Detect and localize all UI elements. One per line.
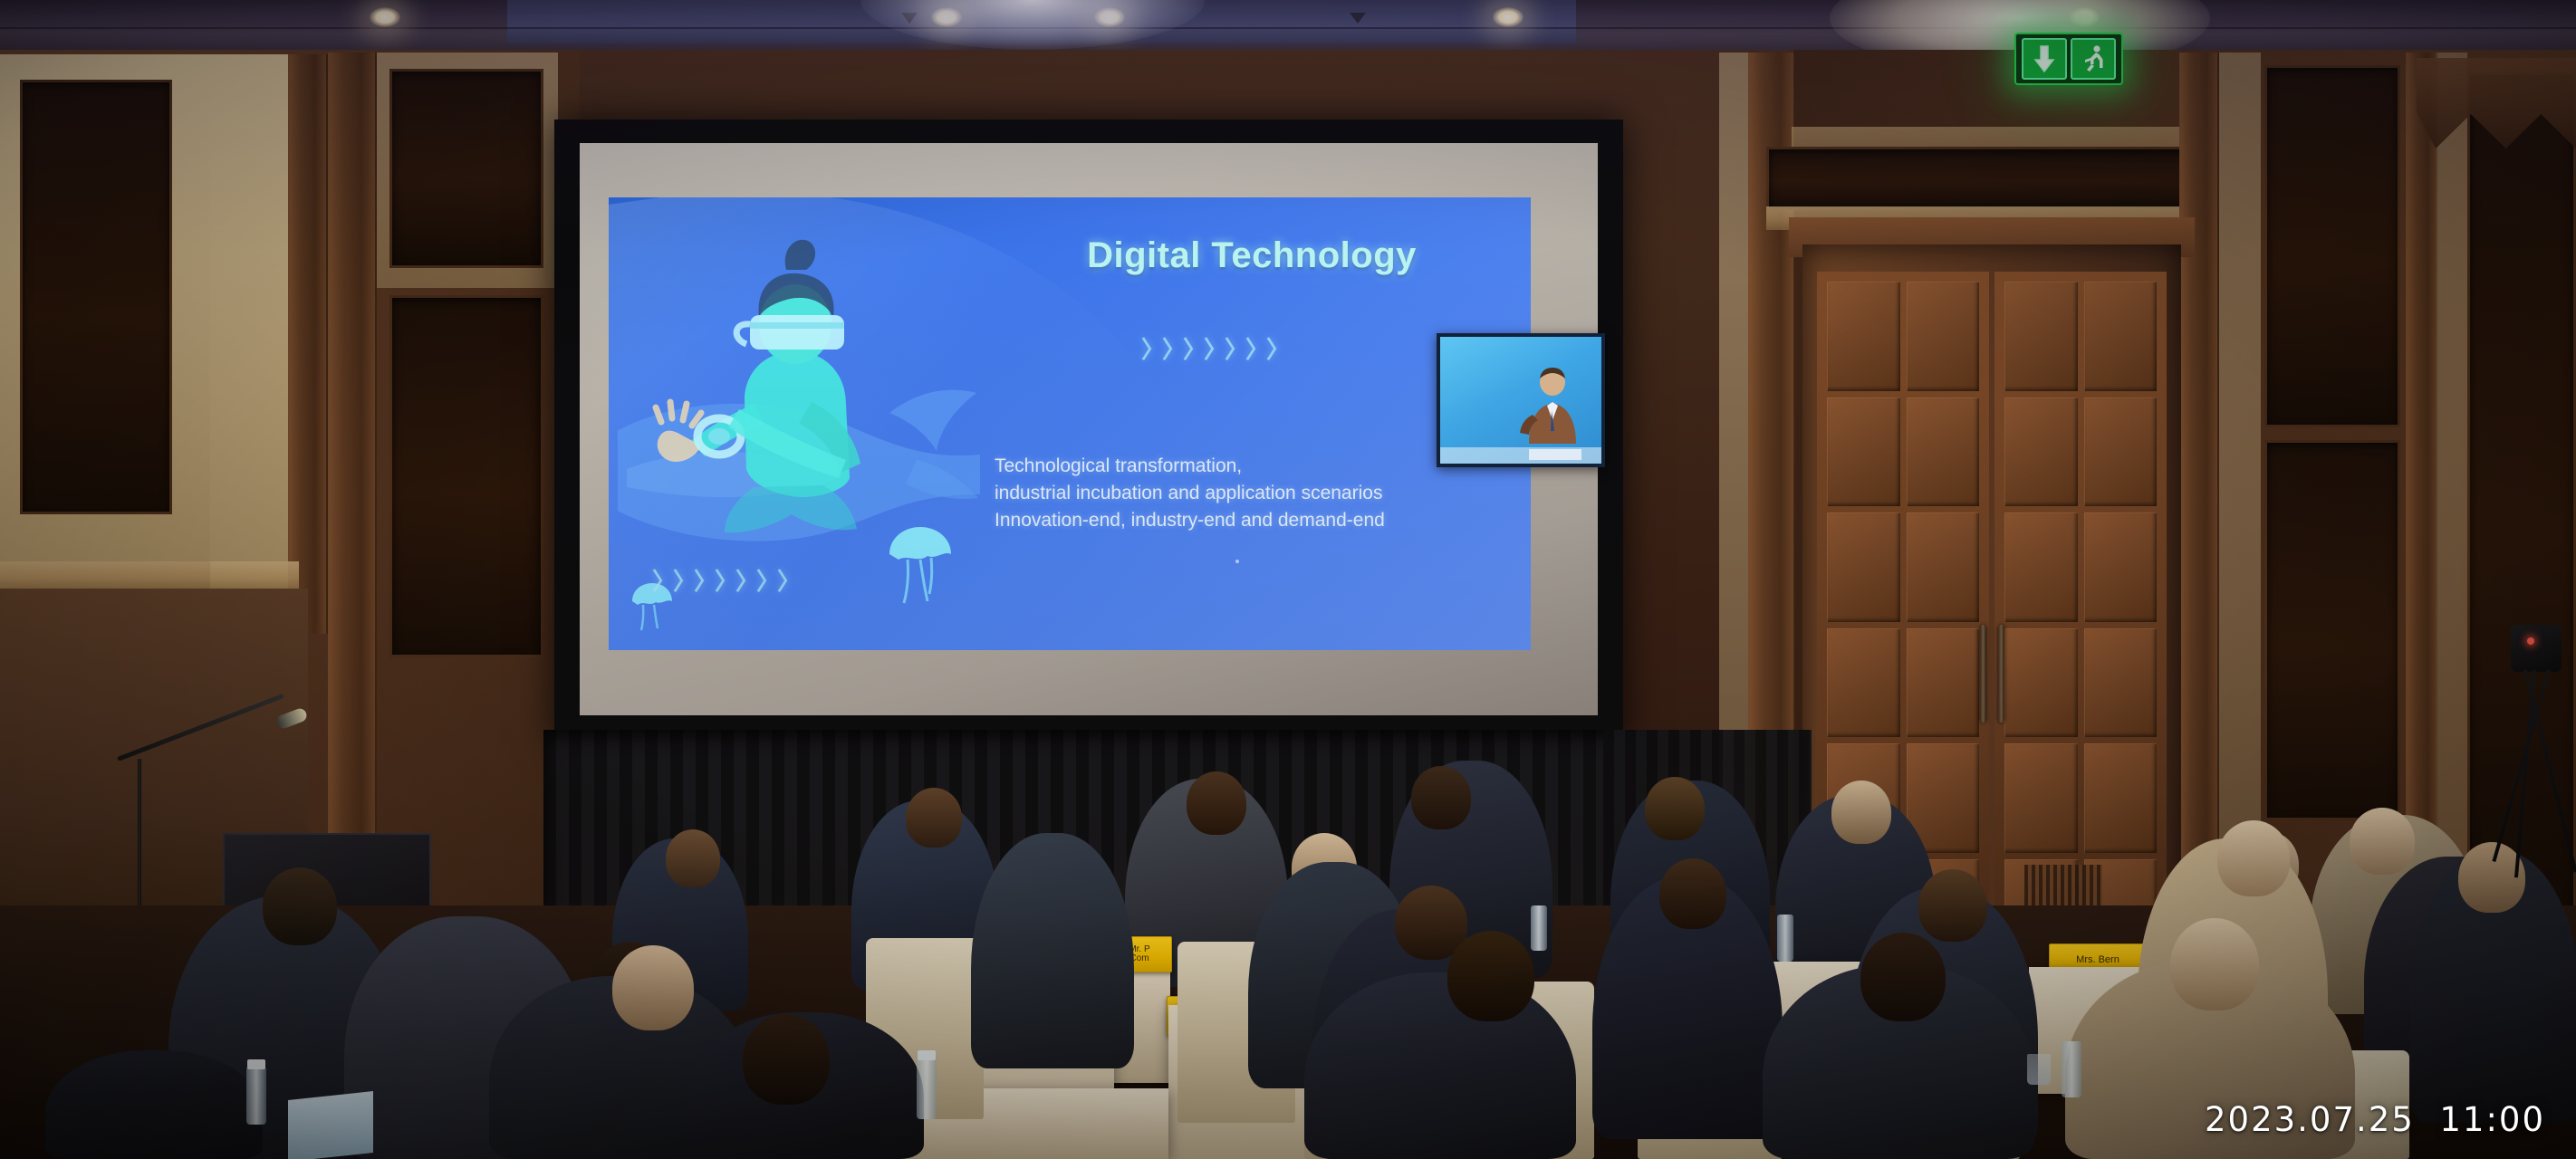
left-wall-pilaster [288, 54, 328, 634]
water-bottle [917, 1058, 937, 1119]
audience-head [906, 788, 962, 848]
bottle-cap [918, 1050, 936, 1060]
back-wall-recess [389, 69, 543, 268]
camera-timestamp: 2023.07.25 11:00 [2205, 1100, 2545, 1139]
slide-body-line-2: industrial incubation and application sc… [995, 480, 1520, 507]
audience-person [45, 1050, 263, 1159]
exit-down-arrow-icon [2022, 38, 2067, 80]
door-panel [2004, 398, 2078, 507]
exit-running-person-icon [2071, 38, 2116, 80]
door-panel [1907, 398, 1980, 507]
door-panel [2004, 743, 2078, 853]
water-bottle [246, 1067, 266, 1125]
audience-head [612, 945, 694, 1030]
right-wall-pilaster [2179, 53, 2219, 958]
document-folder [288, 1091, 373, 1159]
audience-head [1447, 931, 1534, 1021]
door-panel [2084, 398, 2158, 507]
audience-person [971, 833, 1134, 1068]
audience-head [1831, 781, 1891, 844]
door-panel [2004, 628, 2078, 738]
camera-recording-led-icon [2527, 637, 2534, 645]
audience-head [1659, 858, 1726, 929]
door-handle-left[interactable] [1980, 625, 1986, 723]
audience-head [1645, 777, 1705, 840]
right-wall-recess [2264, 440, 2400, 820]
audience-head [743, 1014, 830, 1105]
presentation-slide: Digital Technology 〉〉〉〉〉〉〉 〉〉〉〉〉〉〉 Techn… [609, 197, 1531, 650]
door-panel [1907, 282, 1980, 391]
water-bottle [1777, 915, 1793, 962]
confidence-monitor-screen [1440, 337, 1601, 464]
audience-head [2170, 918, 2259, 1011]
ceiling-downlight [1493, 7, 1523, 27]
door-panel [1827, 282, 1900, 391]
audience-person [1304, 972, 1576, 1159]
audience-head [1187, 771, 1246, 835]
water-bottle [1531, 905, 1547, 951]
audience-head [666, 829, 720, 887]
left-wall-cornice [0, 561, 299, 592]
ceiling-downlight [370, 7, 400, 27]
door-panel [2004, 512, 2078, 622]
door-panel [2084, 282, 2158, 391]
door-panel [1907, 628, 1980, 738]
audience-head [263, 867, 337, 945]
video-camera [2511, 625, 2562, 672]
door-panel [1827, 628, 1900, 738]
slide-title: Digital Technology [998, 235, 1505, 276]
monitor-nameplate [1529, 449, 1581, 460]
audience-head [2350, 808, 2415, 875]
water-bottle [2062, 1041, 2081, 1097]
conference-room-photo: Digital Technology 〉〉〉〉〉〉〉 〉〉〉〉〉〉〉 Techn… [0, 0, 2576, 1159]
door-panel [2084, 512, 2158, 622]
back-wall-pilaster [328, 53, 377, 922]
placard-line-1: Mrs. Bern [2076, 955, 2119, 966]
audience-head [1918, 869, 1987, 942]
door-panel [2004, 282, 2078, 391]
emergency-exit-sign [2014, 33, 2123, 85]
slide-chevron-decoration: 〉〉〉〉〉〉〉 [1141, 331, 1287, 365]
door-panel [1827, 398, 1900, 507]
bottle-cap [247, 1059, 265, 1069]
door-handle-right[interactable] [1998, 625, 2004, 723]
right-wall-long-recess [1766, 147, 2219, 210]
slide-body-line-3: Innovation-end, industry-end and demand-… [995, 507, 1520, 534]
left-wall-pier [210, 54, 293, 598]
door-panel [2084, 628, 2158, 738]
audience-head [2217, 820, 2290, 896]
audience-head [1860, 933, 1946, 1021]
confidence-monitor [1437, 333, 1605, 467]
back-wall-recess [389, 295, 543, 657]
right-wall-recess [2264, 65, 2400, 427]
slide-bullet-dot [1235, 560, 1239, 563]
audience-head [1411, 766, 1471, 829]
door-panel [1907, 512, 1980, 622]
drinking-glass [2027, 1054, 2051, 1085]
slide-chevron-decoration-corner: 〉〉〉〉〉〉〉 [652, 563, 798, 597]
door-panel [2084, 743, 2158, 853]
left-wall-recessed-panel [20, 80, 172, 514]
monitor-speaker-figure [1516, 368, 1585, 444]
door-panel [1827, 512, 1900, 622]
